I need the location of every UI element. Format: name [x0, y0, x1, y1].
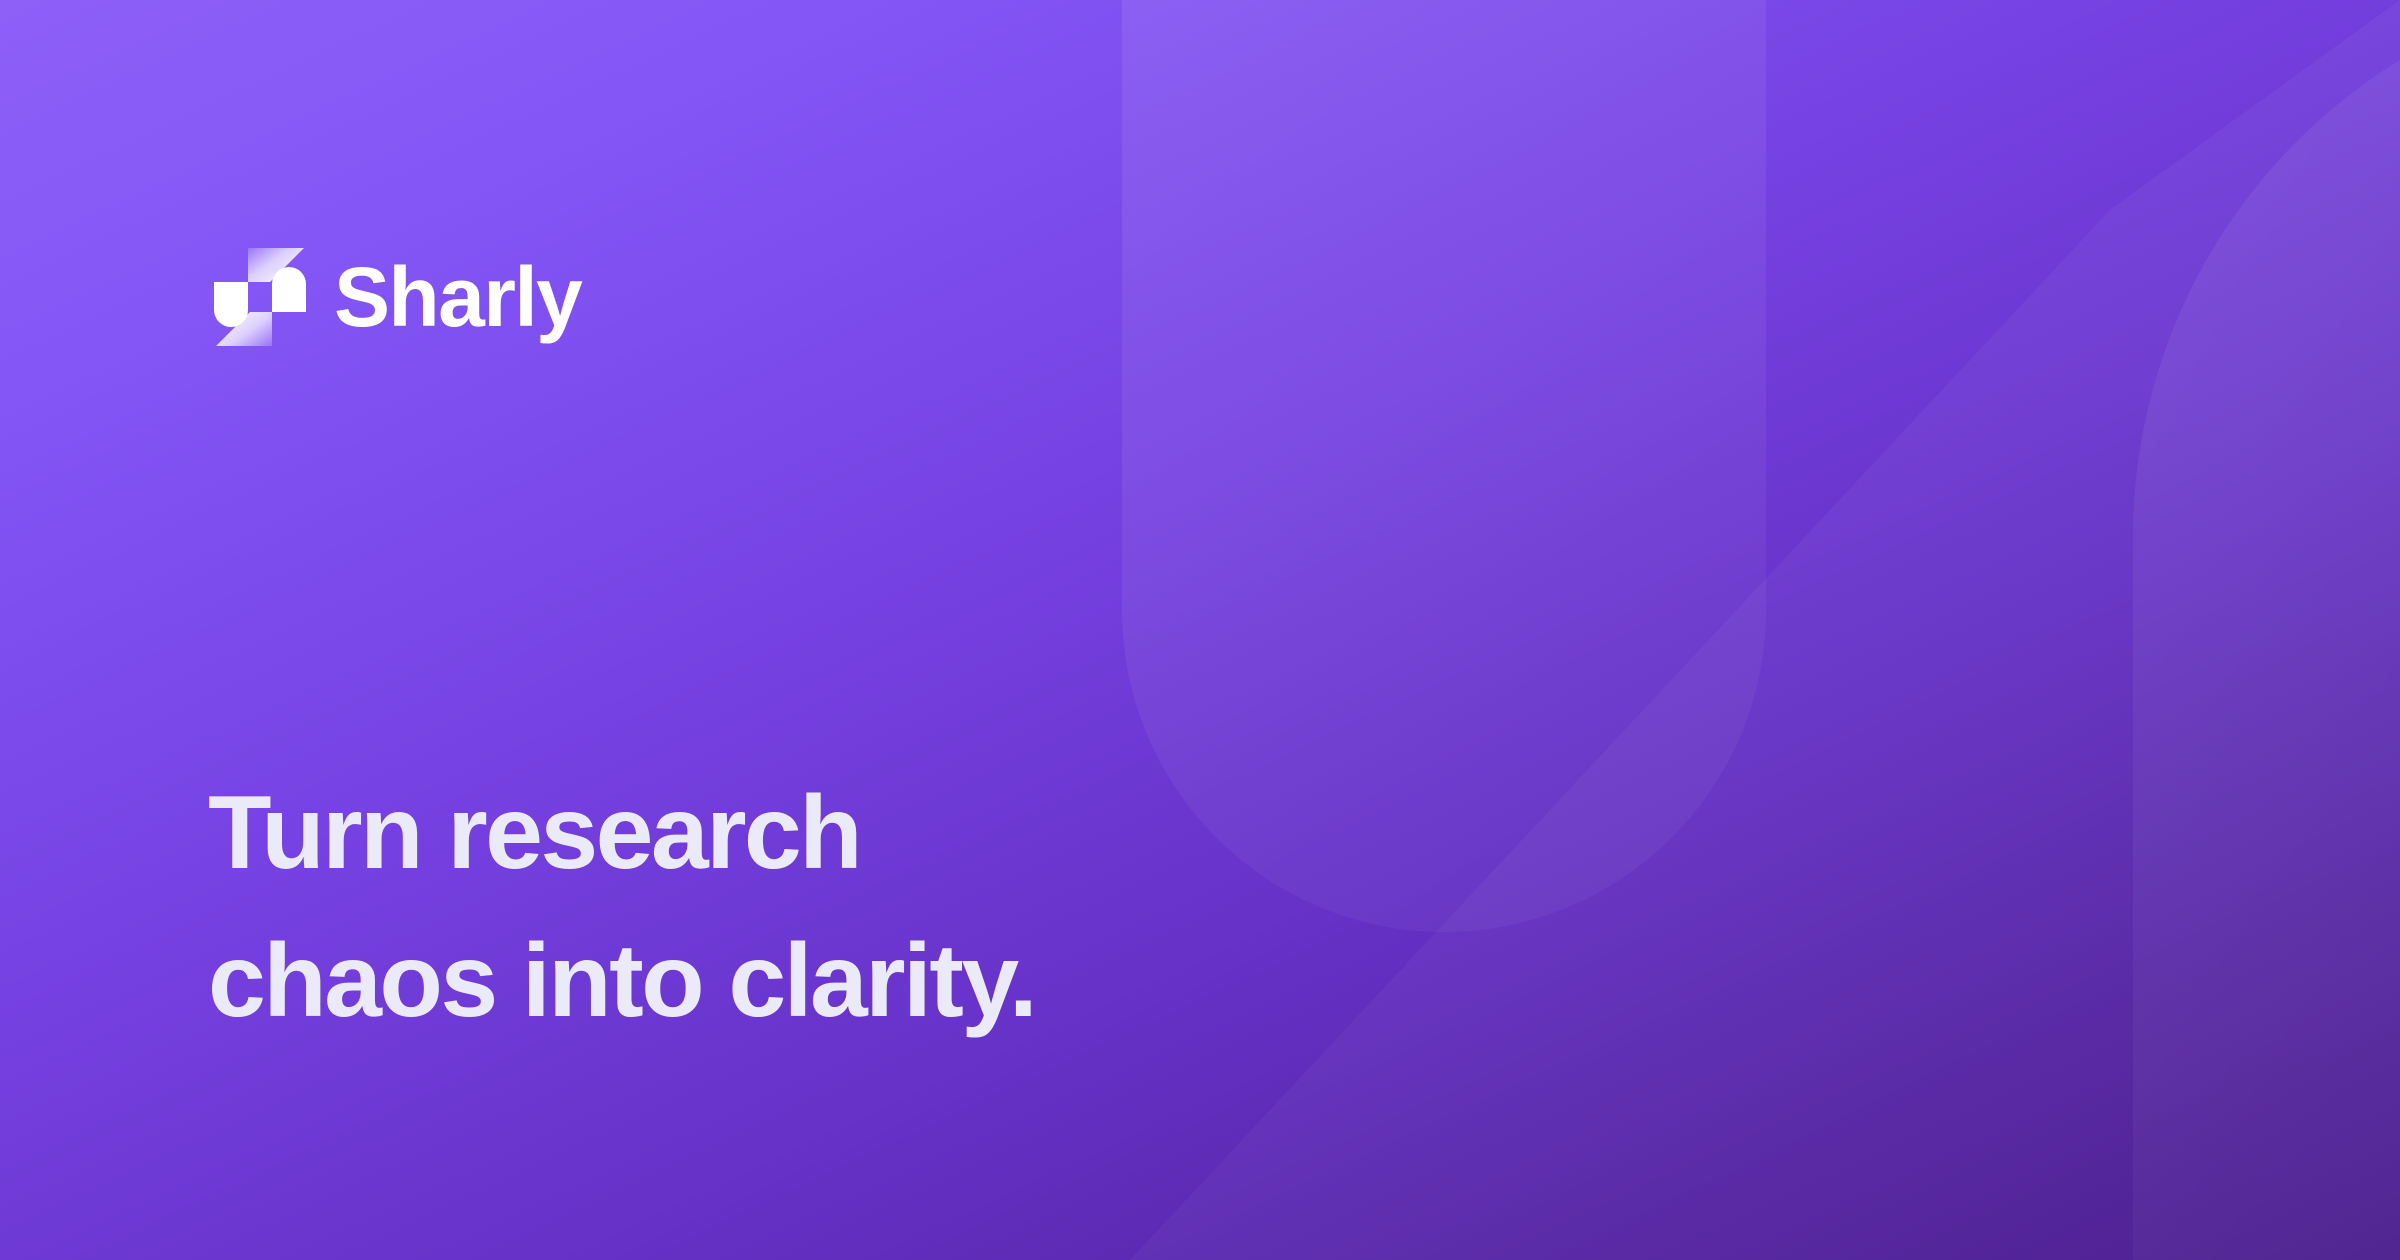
hero-banner: Sharly Turn research chaos into clarity.: [0, 0, 2400, 1260]
sharly-s-mark-icon: [212, 246, 308, 348]
headline-line-2: chaos into clarity.: [208, 908, 1035, 1056]
diagonal-wedge-shape: [1130, 0, 2400, 1260]
brand-wordmark: Sharly: [334, 255, 581, 339]
headline-line-1: Turn research: [208, 760, 1035, 908]
u-shape: [1122, 0, 1766, 932]
background-shapes: [0, 0, 2400, 1260]
brand-lockup[interactable]: Sharly: [212, 246, 581, 348]
hero-headline: Turn research chaos into clarity.: [208, 760, 1035, 1055]
right-panel-shape: [2133, 0, 2400, 1260]
